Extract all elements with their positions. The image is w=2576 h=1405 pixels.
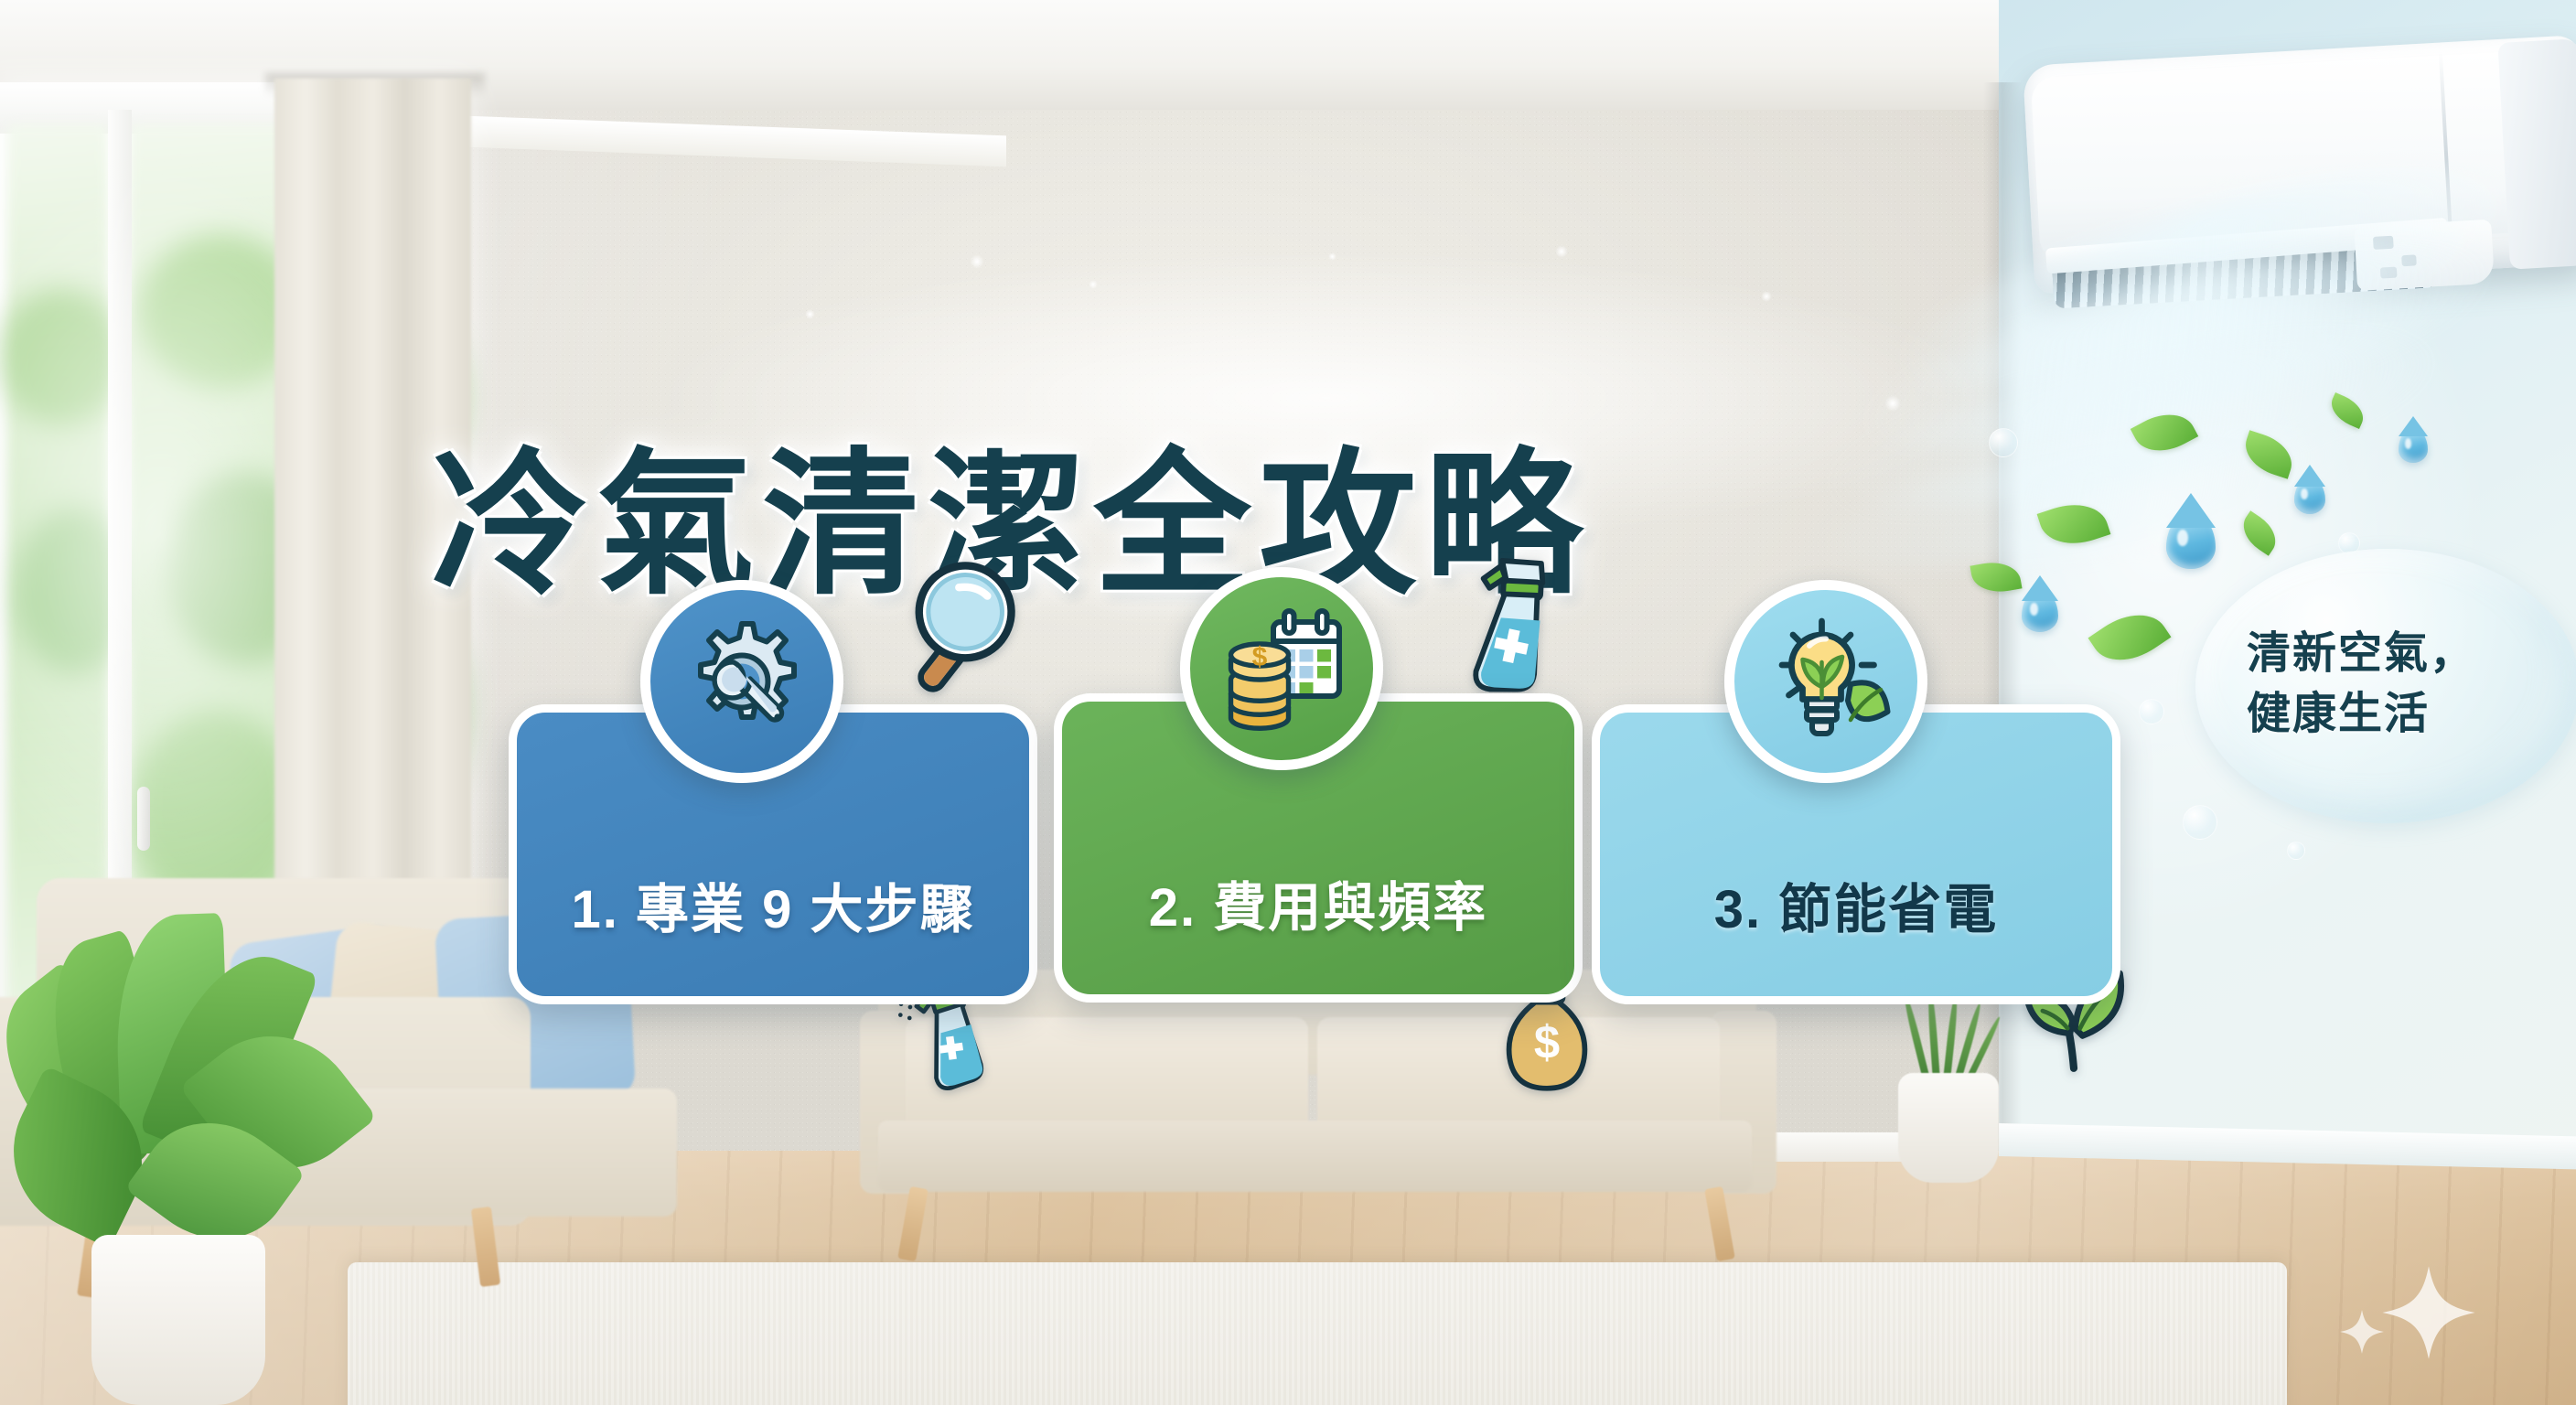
air-conditioner-unit xyxy=(2023,35,2576,368)
sofa-leg xyxy=(897,1186,928,1261)
plant-pot-left xyxy=(91,1235,265,1405)
svg-text:$: $ xyxy=(1252,642,1268,672)
window-handle[interactable] xyxy=(137,787,150,851)
card-label-1: 1. 專業 9 大步驟 xyxy=(517,866,1029,996)
plant-pot-right xyxy=(1898,1073,1999,1183)
ac-control-panel xyxy=(2354,220,2495,291)
ac-indicator-led xyxy=(2380,267,2398,279)
small-bubble xyxy=(2287,842,2305,860)
sparkle-dot xyxy=(1089,280,1098,289)
slogan-line-2: 健康生活 xyxy=(2247,684,2549,745)
badge-coins-calendar: $ xyxy=(1180,567,1383,770)
badge-lightbulb-leaf xyxy=(1724,580,1927,783)
coins-calendar-icon: $ xyxy=(1213,600,1350,737)
gear-wrench-icon xyxy=(673,613,810,750)
sofa-leg xyxy=(1704,1186,1735,1261)
water-droplet-icon xyxy=(2399,428,2428,463)
card-label-2: 2. 費用與頻率 xyxy=(1062,864,1574,994)
slogan-line-1: 清新空氣， xyxy=(2247,624,2549,684)
slogan-text-block: 清新空氣， 健康生活 xyxy=(2247,593,2549,776)
sofa-base xyxy=(878,1121,1752,1192)
small-bubble xyxy=(2183,805,2217,840)
potted-plant-left xyxy=(9,906,393,1405)
sparkle-dot xyxy=(1328,252,1336,261)
ac-display-led xyxy=(2373,236,2394,250)
sparkle-dot xyxy=(805,309,815,319)
water-droplet-icon xyxy=(2166,512,2216,569)
banner-canvas: 清新空氣， 健康生活 冷氣清潔全攻略 xyxy=(0,0,2576,1405)
ac-side-cap xyxy=(2497,38,2576,270)
sparkle-dot xyxy=(1761,291,1772,302)
sparkle-dot xyxy=(1555,245,1568,258)
card-label-3: 3. 節能省電 xyxy=(1600,866,2112,996)
badge-gear-wrench xyxy=(640,580,843,783)
small-bubble xyxy=(2139,699,2164,724)
magnifier-icon xyxy=(885,556,1039,710)
sparkle-icon xyxy=(2378,1262,2479,1363)
sparkle-dot xyxy=(970,254,984,269)
svg-text:$: $ xyxy=(1534,1016,1560,1068)
water-droplet-icon xyxy=(2294,477,2325,514)
lightbulb-leaf-icon xyxy=(1757,613,1894,750)
water-droplet-icon xyxy=(2022,590,2058,632)
ac-indicator-led xyxy=(2401,254,2417,266)
sparkle-icon-small xyxy=(2338,1308,2386,1356)
